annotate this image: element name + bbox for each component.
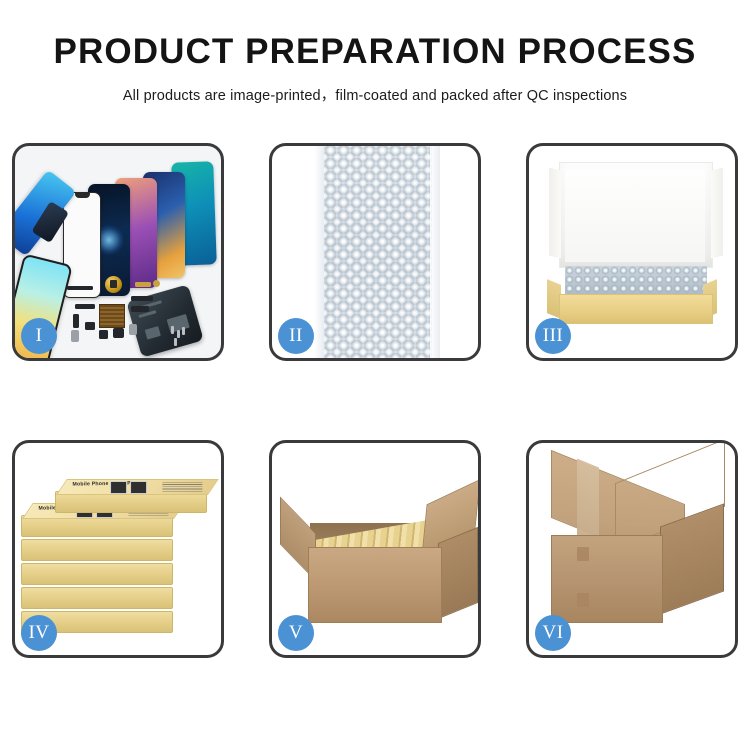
bubble-wrap-sheet [324,146,432,358]
speaker-box-part [113,328,124,338]
camera-flex-part [131,306,149,312]
box-lid-phone-image [110,481,127,494]
process-steps-grid: I II III [12,143,738,658]
bubble-wrap-left-edge [314,146,324,358]
taptic-part [85,322,95,330]
antenna-flex-part [131,296,153,301]
volume-flex-part [73,314,79,328]
carton-side-face [438,527,478,619]
panel-step-3: III [526,143,738,361]
panel-step-6: VI [526,440,738,658]
sim-tray-part [71,330,79,342]
small-spare-parts-group [67,274,187,358]
carton-seal-mark [577,593,589,607]
badge-step-1: I [21,318,57,354]
stacked-box-labeled: Mobile Phone Spare Parts [21,515,173,537]
stacked-box-labeled: Mobile Phone Spare Parts [55,491,207,513]
battery-connector-part [129,324,137,335]
badge-step-2: II [278,318,314,354]
page-subtitle: All products are image-printed，film-coat… [0,84,750,105]
flex-cable-part [67,286,93,290]
power-flex-part [75,304,95,309]
speaker-part [105,276,122,293]
carton-seal-mark [577,547,589,561]
panel-step-2: II [269,143,481,361]
stacked-box [21,563,173,585]
stacked-box [21,539,173,561]
gold-connector-part [135,282,151,287]
badge-step-5: V [278,615,314,651]
badge-step-3: III [535,318,571,354]
white-foam-insert [565,170,705,262]
screws-group [171,326,187,350]
panel-step-5: V [269,440,481,658]
panel-step-4: Mobile Phone Spare Parts Mobile Phone Sp… [12,440,224,658]
box-lid-phone-image [130,481,147,494]
bubble-wrap-right-edge [430,146,440,358]
box-lid-spec-lines [162,482,202,492]
page-header: PRODUCT PREPARATION PROCESS All products… [0,0,750,105]
page-title: PRODUCT PREPARATION PROCESS [0,34,750,71]
carton-front-face [551,535,663,623]
badge-step-6: VI [535,615,571,651]
carton-front-face [308,547,442,623]
gold-button-part [153,280,160,287]
stacked-box [21,587,173,609]
yellow-box-front [559,294,713,324]
box-lid-face: Mobile Phone Spare Parts [56,479,219,495]
chip-grid-part [99,304,125,328]
badge-step-4: IV [21,615,57,651]
vibrator-part [99,330,108,339]
bubble-wrapped-product [565,266,707,296]
panel-step-1: I [12,143,224,361]
